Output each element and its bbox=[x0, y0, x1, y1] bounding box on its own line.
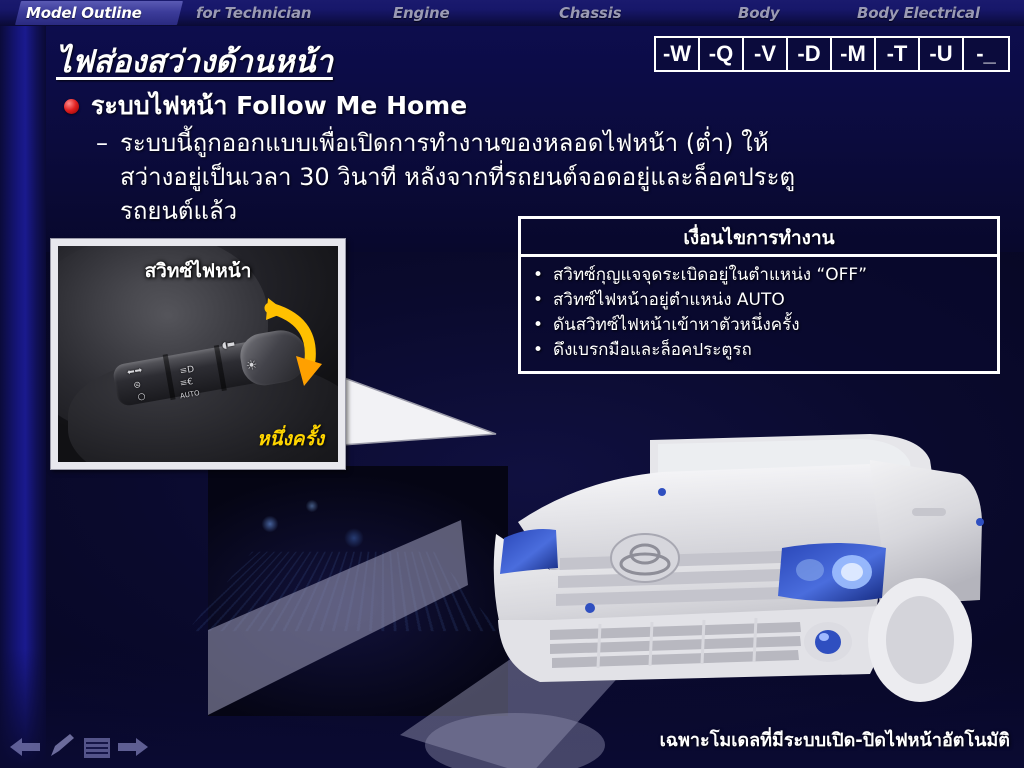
auto-position-label: AUTO bbox=[179, 389, 200, 401]
code-box-blank[interactable]: -_ bbox=[964, 38, 1008, 70]
condition-label: สวิทซ์ไฟหน้าอยู่ตำแหน่ง AUTO bbox=[553, 288, 785, 313]
section-heading: ระบบไฟหน้า Follow Me Home bbox=[64, 86, 467, 126]
headlight-switch-photo: ⬅➡ ⊜ ○ ≡D ≡€ AUTO ◖▬ ☀ สวิทซ์ไฟหน้า หนึ่… bbox=[58, 246, 338, 462]
slide: Model Outline for Technician Engine Chas… bbox=[0, 0, 1024, 768]
operating-conditions-table: เงื่อนไขการทำงาน • สวิทซ์กุญแจจุดระเบิดอ… bbox=[518, 216, 1000, 374]
paragraph-line-1: ระบบนี้ถูกออกแบบเพื่อเปิดการทำงานของหลอด… bbox=[120, 126, 795, 160]
tab-engine[interactable]: Engine bbox=[393, 0, 449, 26]
code-box-u[interactable]: -U bbox=[920, 38, 964, 70]
code-box-w[interactable]: -W bbox=[656, 38, 700, 70]
condition-label: ดันสวิทซ์ไฟหน้าเข้าหาตัวหนึ่งครั้ง bbox=[553, 313, 800, 338]
paragraph-line-3: รถยนต์แล้ว bbox=[120, 194, 795, 228]
forward-arrow-icon[interactable] bbox=[118, 736, 148, 758]
bottom-navigation-bar bbox=[0, 726, 1024, 768]
tab-body[interactable]: Body bbox=[738, 0, 779, 26]
notes-page-icon[interactable] bbox=[84, 738, 110, 758]
condition-row: • ดันสวิทซ์ไฟหน้าเข้าหาตัวหนึ่งครั้ง bbox=[533, 313, 989, 338]
condition-row: • สวิทซ์กุญแจจุดระเบิดอยู่ในตำแหน่ง “OFF… bbox=[533, 263, 989, 288]
tab-for-technician[interactable]: for Technician bbox=[196, 0, 311, 26]
bullet-icon: • bbox=[533, 338, 543, 363]
curved-yellow-arrow-icon bbox=[260, 294, 322, 404]
top-navigation-bar: Model Outline for Technician Engine Chas… bbox=[0, 0, 1024, 26]
tab-model-outline[interactable]: Model Outline bbox=[26, 0, 142, 26]
photo-note-label: หนึ่งครั้ง bbox=[257, 424, 324, 454]
code-box-d[interactable]: -D bbox=[788, 38, 832, 70]
code-box-v[interactable]: -V bbox=[744, 38, 788, 70]
paragraph-line-2: สว่างอยู่เป็นเวลา 30 วินาที หลังจากที่รถ… bbox=[120, 160, 795, 194]
toyota-emblem-icon bbox=[611, 534, 679, 582]
back-arrow-icon[interactable] bbox=[10, 736, 40, 758]
description-paragraph: – ระบบนี้ถูกออกแบบเพื่อเปิดการทำงานของหล… bbox=[96, 126, 976, 228]
conditions-table-body: • สวิทซ์กุญแจจุดระเบิดอยู่ในตำแหน่ง “OFF… bbox=[521, 257, 997, 371]
section-heading-label: ระบบไฟหน้า Follow Me Home bbox=[91, 86, 467, 126]
tab-body-electrical[interactable]: Body Electrical bbox=[857, 0, 980, 26]
condition-label: ดึงเบรกมือและล็อคประตูรถ bbox=[553, 338, 752, 363]
condition-row: • สวิทซ์ไฟหน้าอยู่ตำแหน่ง AUTO bbox=[533, 288, 989, 313]
code-box-m[interactable]: -M bbox=[832, 38, 876, 70]
page-title: ไฟส่องสว่างด้านหน้า bbox=[56, 36, 333, 86]
condition-row: • ดึงเบรกมือและล็อคประตูรถ bbox=[533, 338, 989, 363]
code-box-t[interactable]: -T bbox=[876, 38, 920, 70]
dash-marker: – bbox=[96, 126, 108, 228]
red-dot-icon bbox=[64, 99, 79, 114]
photo-caption: สวิทซ์ไฟหน้า bbox=[58, 256, 338, 286]
bullet-icon: • bbox=[533, 263, 543, 288]
light-on-icon: ☀ bbox=[245, 361, 258, 372]
code-box-q[interactable]: -Q bbox=[700, 38, 744, 70]
fog-lamp-icon: ⊜ bbox=[133, 381, 142, 391]
model-code-boxes: -W -Q -V -D -M -T -U -_ bbox=[654, 36, 1010, 72]
headlight-switch-photo-frame: ⬅➡ ⊜ ○ ≡D ≡€ AUTO ◖▬ ☀ สวิทซ์ไฟหน้า หนึ่… bbox=[50, 238, 346, 470]
tab-chassis[interactable]: Chassis bbox=[559, 0, 621, 26]
pencil-edit-icon[interactable] bbox=[48, 734, 74, 758]
condition-label: สวิทซ์กุญแจจุดระเบิดอยู่ในตำแหน่ง “OFF” bbox=[553, 263, 867, 288]
bullet-icon: • bbox=[533, 288, 543, 313]
bullet-icon: • bbox=[533, 313, 543, 338]
callout-pointer bbox=[328, 368, 518, 488]
off-position-icon: ○ bbox=[137, 392, 146, 402]
